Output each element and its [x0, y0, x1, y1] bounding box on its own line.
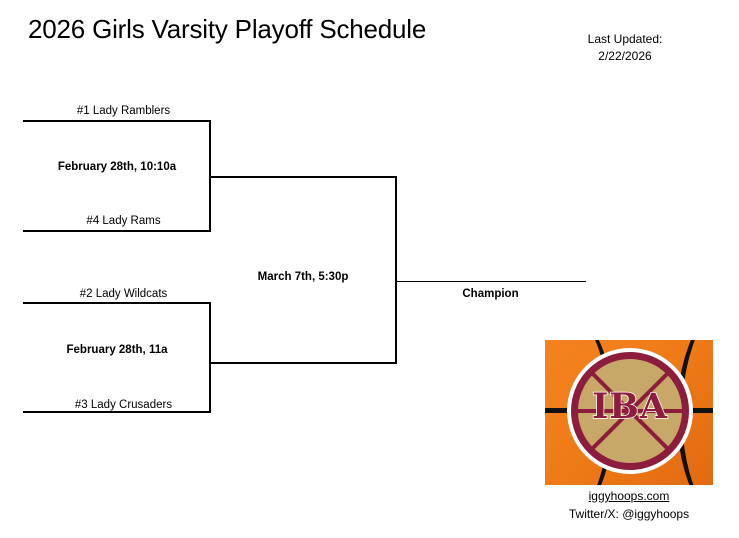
team-seed-2: #2 Lady Wildcats: [36, 288, 211, 300]
bracket-line-semi1-top: [23, 120, 211, 122]
playoff-bracket-page: 2026 Girls Varsity Playoff Schedule Last…: [0, 0, 739, 538]
bracket-line-semi2-bottom: [23, 411, 211, 413]
bracket-line-champion: [395, 281, 586, 282]
social-handle: Twitter/X: @iggyhoops: [533, 507, 725, 521]
bracket-line-semi2-top: [23, 302, 211, 304]
last-updated-date: 2/22/2026: [565, 48, 685, 65]
logo-text: IBA: [571, 386, 689, 427]
bracket-line-final-right: [395, 176, 397, 364]
last-updated-label: Last Updated:: [565, 31, 685, 48]
bracket-line-semi1-bottom: [23, 230, 211, 232]
game-time-semi2: February 28th, 11a: [23, 344, 211, 356]
last-updated-block: Last Updated: 2/22/2026: [565, 31, 685, 65]
champion-label: Champion: [395, 288, 586, 300]
bracket-line-semi2-right: [209, 302, 211, 413]
bracket-line-final-bottom: [209, 362, 397, 364]
bracket-line-final-top: [209, 176, 397, 178]
iba-logo: IBA: [545, 340, 713, 485]
page-title: 2026 Girls Varsity Playoff Schedule: [28, 14, 426, 45]
game-time-semi1: February 28th, 10:10a: [23, 161, 211, 173]
website-link[interactable]: iggyhoops.com: [545, 489, 713, 503]
team-seed-1: #1 Lady Ramblers: [36, 105, 211, 117]
game-time-final: March 7th, 5:30p: [209, 271, 397, 283]
team-seed-3: #3 Lady Crusaders: [36, 399, 211, 411]
team-seed-4: #4 Lady Rams: [36, 215, 211, 227]
